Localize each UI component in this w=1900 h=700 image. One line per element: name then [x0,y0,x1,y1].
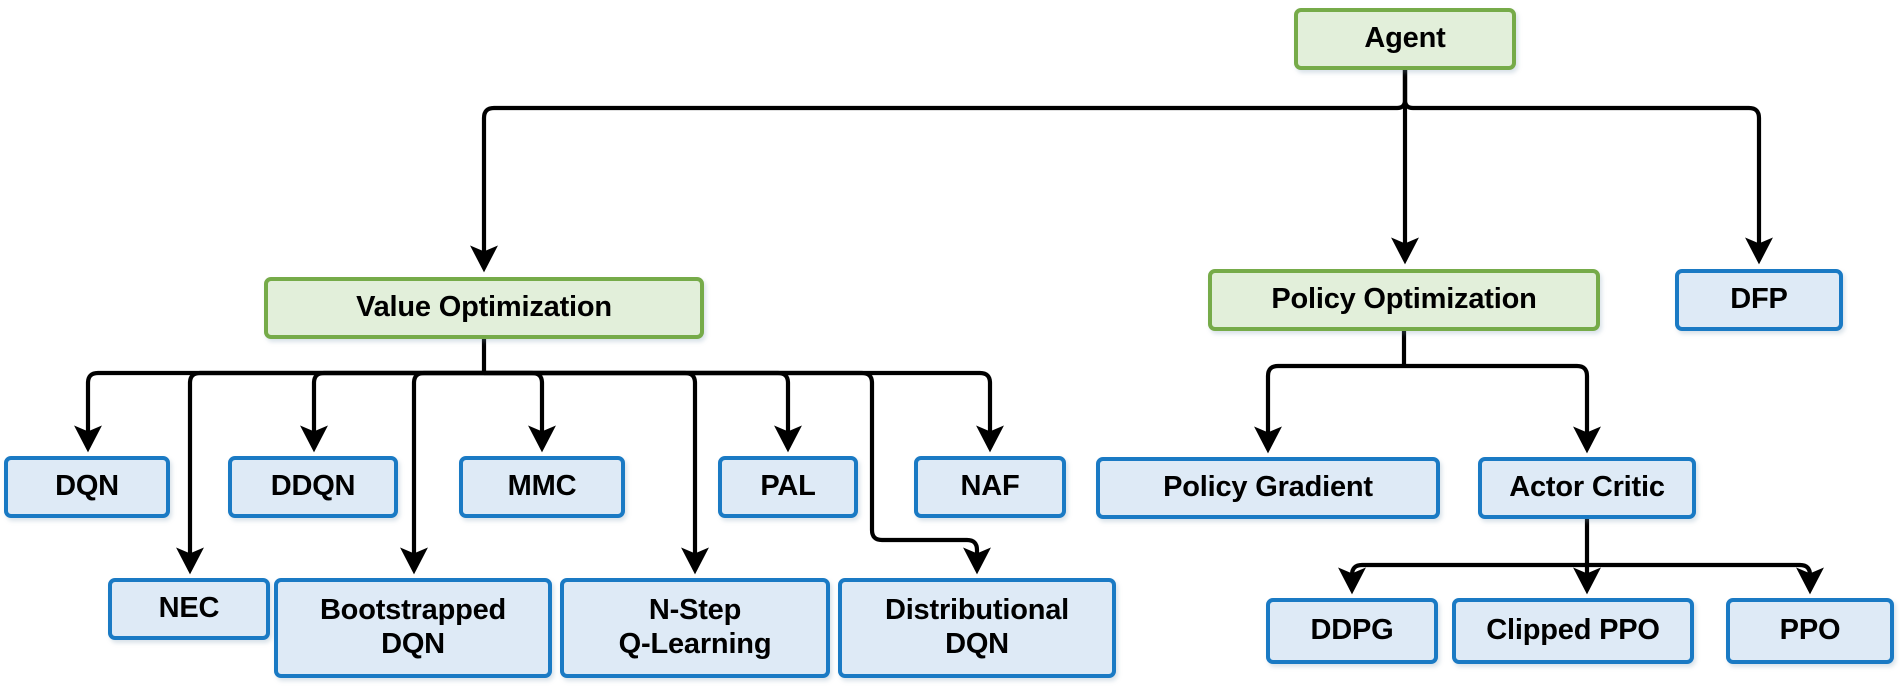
node-ddpg[interactable]: DDPG [1266,598,1438,664]
edge-value-optimization-to-ddqn [314,373,484,448]
node-dqn[interactable]: DQN [4,456,170,518]
node-ddqn-label: DDQN [232,470,394,504]
edge-policy-optimization-to-actor-critic [1404,366,1587,449]
node-ppo[interactable]: PPO [1726,598,1894,664]
node-clipped-ppo-label: Clipped PPO [1456,614,1690,648]
node-value-optimization-label: Value Optimization [268,291,700,325]
node-policy-gradient-label: Policy Gradient [1100,471,1436,505]
edge-value-optimization-to-naf [484,373,990,448]
node-nec[interactable]: NEC [108,578,270,640]
node-actor-critic[interactable]: Actor Critic [1478,457,1696,519]
node-n-step-q-learning-label: N-Step Q-Learning [564,594,826,661]
node-clipped-ppo[interactable]: Clipped PPO [1452,598,1694,664]
node-agent[interactable]: Agent [1294,8,1516,70]
edge-policy-optimization-to-policy-gradient [1268,366,1404,449]
node-n-step-q-learning[interactable]: N-Step Q-Learning [560,578,830,678]
node-agent-label: Agent [1298,22,1512,56]
node-policy-optimization[interactable]: Policy Optimization [1208,269,1600,331]
edge-value-optimization-to-dqn [88,373,484,448]
node-value-optimization[interactable]: Value Optimization [264,277,704,339]
edge-value-optimization-to-pal [484,373,788,448]
edge-agent-to-value-optimization [484,70,1405,268]
node-ddqn[interactable]: DDQN [228,456,398,518]
node-ppo-label: PPO [1730,614,1890,648]
node-mmc-label: MMC [463,470,621,504]
node-bootstrapped-dqn-label: Bootstrapped DQN [278,594,548,661]
node-distributional-dqn-label: Distributional DQN [842,594,1112,661]
node-dfp-label: DFP [1679,283,1839,317]
node-naf[interactable]: NAF [914,456,1066,518]
node-mmc[interactable]: MMC [459,456,625,518]
edge-actor-critic-to-ppo [1587,565,1810,590]
node-actor-critic-label: Actor Critic [1482,471,1692,505]
edge-agent-to-dfp [1405,70,1759,260]
node-distributional-dqn[interactable]: Distributional DQN [838,578,1116,678]
node-nec-label: NEC [112,592,266,626]
node-pal-label: PAL [722,470,854,504]
node-policy-optimization-label: Policy Optimization [1212,283,1596,317]
node-naf-label: NAF [918,470,1062,504]
diagram-canvas: Agent Value Optimization Policy Optimiza… [0,0,1900,700]
node-pal[interactable]: PAL [718,456,858,518]
edge-actor-critic-to-ddpg [1352,565,1587,590]
node-dfp[interactable]: DFP [1675,269,1843,331]
node-bootstrapped-dqn[interactable]: Bootstrapped DQN [274,578,552,678]
node-policy-gradient[interactable]: Policy Gradient [1096,457,1440,519]
node-ddpg-label: DDPG [1270,614,1434,648]
node-dqn-label: DQN [8,470,166,504]
edge-value-optimization-to-mmc [484,373,542,448]
